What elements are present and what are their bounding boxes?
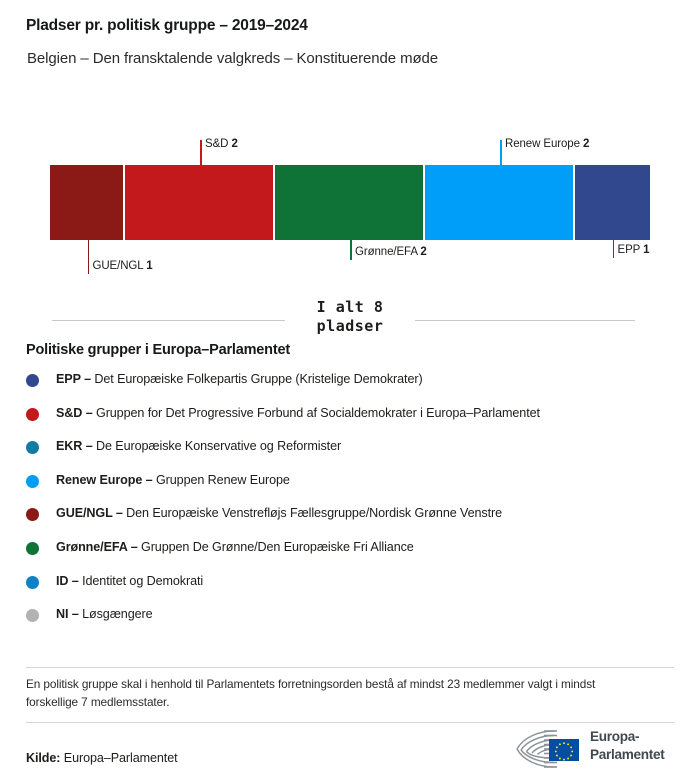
legend-item-text: Renew Europe – Gruppen Renew Europe — [56, 472, 290, 488]
legend-item[interactable]: Renew Europe – Gruppen Renew Europe — [26, 472, 666, 506]
legend-item-abbr: EPP – — [56, 372, 91, 386]
legend-item-description: Identitet og Demokrati — [79, 574, 203, 588]
source-label: Kilde: — [26, 751, 60, 765]
callout-group-name: Renew Europe — [505, 138, 580, 150]
legend-item-description: Gruppen De Grønne/Den Europæiske Fri All… — [138, 540, 414, 554]
callout-label: Renew Europe 2 — [505, 138, 589, 150]
legend-item-abbr: EKR – — [56, 439, 93, 453]
callout-group-name: EPP — [618, 244, 641, 256]
callout-group-name: Grønne/EFA — [355, 246, 417, 258]
callout-seat-count: 2 — [231, 138, 237, 150]
legend-color-dot-icon — [26, 441, 39, 454]
legend-color-dot-icon — [26, 508, 39, 521]
page-subtitle: Belgien – Den fransktalende valgkreds – … — [27, 50, 667, 67]
legend-item-abbr: NI – — [56, 607, 79, 621]
footnote-text: En politisk gruppe skal i henhold til Pa… — [26, 675, 646, 711]
legend-item-description: Løsgængere — [79, 607, 153, 621]
callout-tick — [350, 240, 352, 260]
legend-item-text: Grønne/EFA – Gruppen De Grønne/Den Europ… — [56, 539, 414, 555]
callout-label: S&D 2 — [205, 138, 238, 150]
legend-color-dot-icon — [26, 576, 39, 589]
european-parliament-logo: Europa- Parlamentet — [514, 726, 676, 772]
legend-item-abbr: Renew Europe – — [56, 473, 153, 487]
legend-item[interactable]: NI – Løsgængere — [26, 606, 666, 640]
legend-item-abbr: S&D – — [56, 406, 93, 420]
legend-item-text: S&D – Gruppen for Det Progressive Forbun… — [56, 405, 540, 421]
legend-item-description: Gruppen Renew Europe — [153, 473, 290, 487]
legend-item-description: Det Europæiske Folkepartis Gruppe (Krist… — [91, 372, 423, 386]
legend-item-description: Den Europæiske Venstrefløjs Fællesgruppe… — [123, 506, 502, 520]
callout-tick — [88, 240, 90, 274]
legend-item-abbr: ID – — [56, 574, 79, 588]
legend-item-abbr: GUE/NGL – — [56, 506, 123, 520]
ep-logo-text: Europa- Parlamentet — [590, 728, 680, 763]
total-line-2: pladser — [0, 317, 700, 336]
ep-logo-line2: Parlamentet — [590, 746, 680, 764]
stacked-seat-bar — [50, 165, 650, 240]
legend-item[interactable]: S&D – Gruppen for Det Progressive Forbun… — [26, 405, 666, 439]
legend-item[interactable]: Grønne/EFA – Gruppen De Grønne/Den Europ… — [26, 539, 666, 573]
legend-item[interactable]: EKR – De Europæiske Konservative og Refo… — [26, 438, 666, 472]
total-line-1: I alt 8 — [0, 298, 700, 317]
total-seats-label: I alt 8pladser — [0, 298, 700, 336]
legend-color-dot-icon — [26, 609, 39, 622]
legend-color-dot-icon — [26, 408, 39, 421]
callout-seat-count: 1 — [643, 244, 649, 256]
callout-label: Grønne/EFA 2 — [355, 246, 427, 258]
footer-divider — [26, 722, 674, 723]
callout-seat-count: 2 — [420, 246, 426, 258]
callout-group-name: S&D — [205, 138, 228, 150]
callout-seat-count: 1 — [146, 260, 152, 272]
bar-segment[interactable] — [275, 165, 423, 240]
callout-label: EPP 1 — [618, 244, 650, 256]
legend-item-abbr: Grønne/EFA – — [56, 540, 138, 554]
total-seats-block: I alt 8pladser — [0, 298, 700, 344]
legend-item[interactable]: EPP – Det Europæiske Folkepartis Gruppe … — [26, 371, 666, 405]
legend-item[interactable]: GUE/NGL – Den Europæiske Venstrefløjs Fæ… — [26, 505, 666, 539]
legend-list: EPP – Det Europæiske Folkepartis Gruppe … — [26, 371, 666, 640]
legend-item-text: ID – Identitet og Demokrati — [56, 573, 203, 589]
bar-segment[interactable] — [50, 165, 123, 240]
legend-color-dot-icon — [26, 542, 39, 555]
legend-item-text: GUE/NGL – Den Europæiske Venstrefløjs Fæ… — [56, 505, 502, 521]
source-line: Kilde: Europa–Parlamentet — [26, 751, 178, 765]
bar-segment[interactable] — [575, 165, 650, 240]
legend-item-text: NI – Løsgængere — [56, 606, 153, 622]
legend-heading: Politiske grupper i Europa–Parlamentet — [26, 342, 666, 358]
legend-item-text: EPP – Det Europæiske Folkepartis Gruppe … — [56, 371, 423, 387]
source-value: Europa–Parlamentet — [64, 751, 178, 765]
legend-item-text: EKR – De Europæiske Konservative og Refo… — [56, 438, 341, 454]
page-title: Pladser pr. politisk gruppe – 2019–2024 — [26, 17, 666, 35]
callout-tick — [500, 140, 502, 165]
legend-color-dot-icon — [26, 475, 39, 488]
ep-logo-line1: Europa- — [590, 728, 680, 746]
legend-item[interactable]: ID – Identitet og Demokrati — [26, 573, 666, 607]
legend-color-dot-icon — [26, 374, 39, 387]
seat-distribution-chart: GUE/NGL 1S&D 2Grønne/EFA 2Renew Europe 2… — [0, 130, 700, 280]
ep-hemicycle-icon — [514, 727, 586, 771]
bar-segment[interactable] — [125, 165, 273, 240]
legend-item-description: De Europæiske Konservative og Reformiste… — [93, 439, 341, 453]
callout-label: GUE/NGL 1 — [93, 260, 153, 272]
bar-segment[interactable] — [425, 165, 573, 240]
callout-group-name: GUE/NGL — [93, 260, 144, 272]
footnote-divider — [26, 667, 674, 668]
legend-item-description: Gruppen for Det Progressive Forbund af S… — [93, 406, 540, 420]
callout-tick — [613, 240, 615, 258]
callout-tick — [200, 140, 202, 165]
callout-seat-count: 2 — [583, 138, 589, 150]
